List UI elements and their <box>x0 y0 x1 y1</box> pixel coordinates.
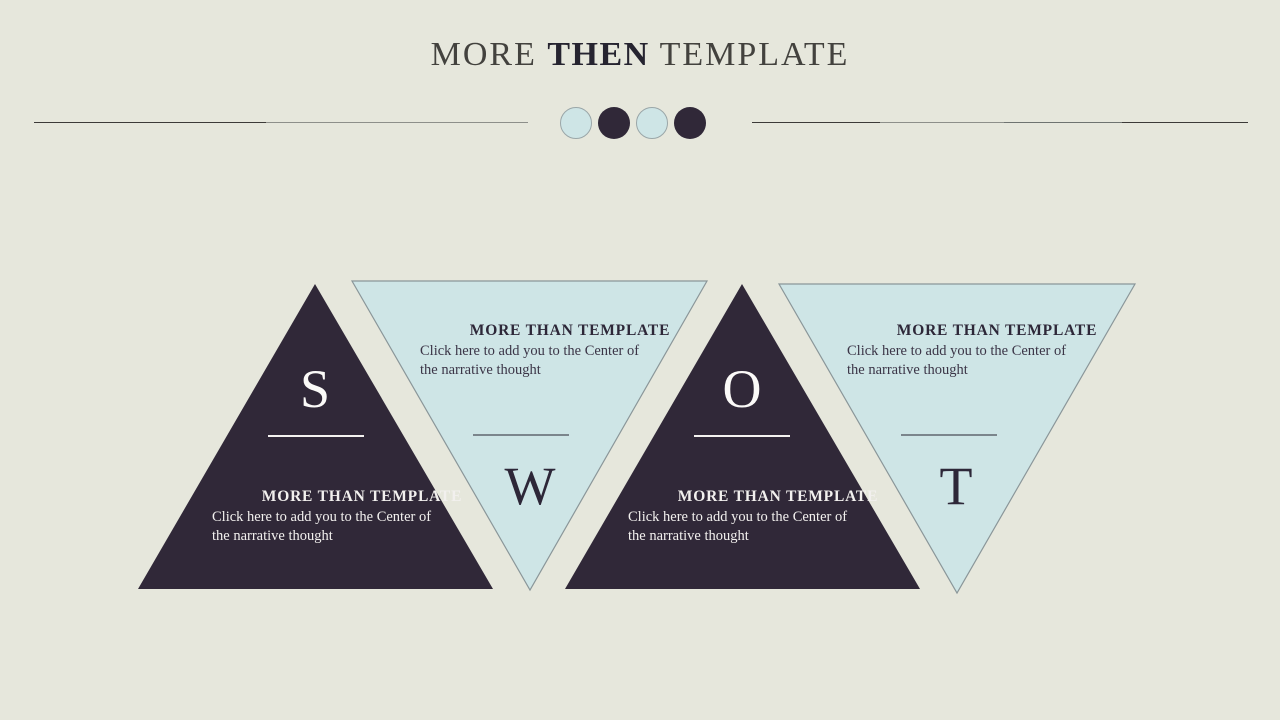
divider-rule-right-fade-a <box>880 122 1004 123</box>
title-segment-more: MORE <box>431 36 537 73</box>
title-segment-then: THEN <box>547 36 649 73</box>
title-segment-template: TEMPLATE <box>660 36 850 73</box>
divider-dot-3 <box>636 107 668 139</box>
divider-dot-1 <box>560 107 592 139</box>
divider-rule-right-fade-b <box>1004 122 1122 123</box>
divider-dot-2 <box>598 107 630 139</box>
slide-canvas: MORE THEN TEMPLATE <box>0 0 1280 720</box>
page-title: MORE THEN TEMPLATE <box>0 36 1280 74</box>
divider-rule-left-fade <box>266 122 528 123</box>
divider-dot-4 <box>674 107 706 139</box>
triangle-shape-t[interactable] <box>777 282 1139 596</box>
divider-dot-group <box>560 104 722 142</box>
